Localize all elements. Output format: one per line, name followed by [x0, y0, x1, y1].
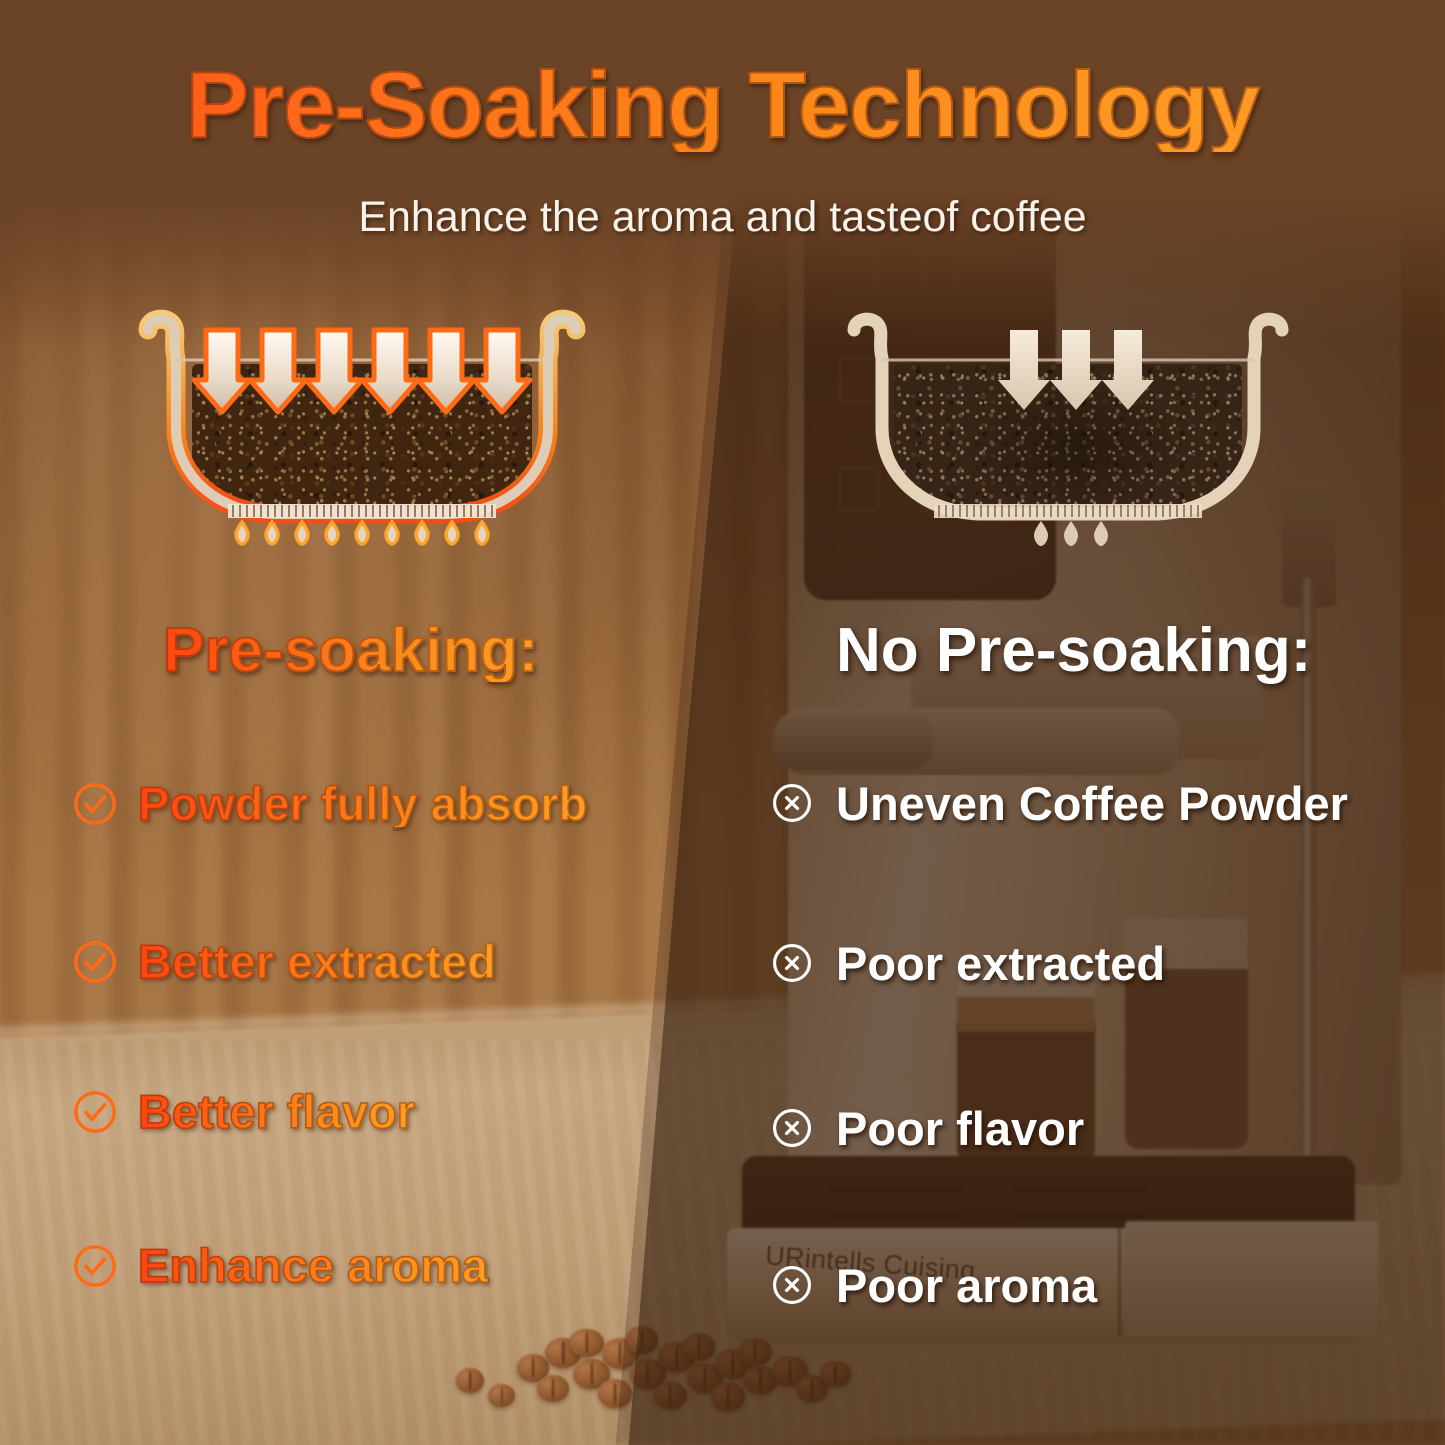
- benefit-item-label: Enhance aroma: [138, 1242, 488, 1289]
- check-circle-icon: [72, 1089, 118, 1135]
- infographic-canvas: URintells Cuising: [0, 0, 1445, 1445]
- check-circle-icon: [72, 1243, 118, 1289]
- diagram-pre-soaking: [132, 308, 592, 588]
- benefit-item-3: Better flavor: [72, 1088, 415, 1135]
- benefit-item-label: Better flavor: [138, 1088, 415, 1135]
- check-circle-icon: [72, 781, 118, 827]
- drawback-item-label: Poor flavor: [836, 1105, 1084, 1152]
- basket-outline-plain: [838, 308, 1298, 588]
- drawback-item-2: Poor extracted: [770, 940, 1165, 987]
- x-circle-icon: [770, 781, 816, 827]
- diagram-no-pre-soaking: [838, 308, 1298, 588]
- x-circle-icon: [770, 941, 816, 987]
- benefit-item-2: Better extracted: [72, 938, 496, 985]
- x-circle-icon: [770, 1106, 816, 1152]
- drawback-item-label: Poor extracted: [836, 940, 1165, 987]
- drawback-item-label: Poor aroma: [836, 1262, 1097, 1309]
- water-droplets: [1034, 521, 1108, 546]
- page-subtitle: Enhance the aroma and tasteof coffee: [0, 193, 1445, 242]
- x-circle-icon: [770, 1263, 816, 1309]
- check-circle-icon: [72, 939, 118, 985]
- drawback-item-3: Poor flavor: [770, 1105, 1084, 1152]
- content-layer: Pre-Soaking Technology Enhance the aroma…: [0, 0, 1445, 1445]
- column-heading-no-pre-soaking: No Pre-soaking:: [836, 620, 1311, 682]
- page-title: Pre-Soaking Technology: [0, 58, 1445, 152]
- benefit-item-4: Enhance aroma: [72, 1242, 488, 1289]
- benefit-item-1: Powder fully absorb: [72, 780, 587, 827]
- column-heading-pre-soaking: Pre-soaking:: [163, 620, 539, 682]
- benefit-item-label: Better extracted: [138, 938, 496, 985]
- water-droplets: [236, 522, 488, 544]
- water-arrows: [998, 330, 1154, 410]
- drawback-item-1: Uneven Coffee Powder: [770, 780, 1348, 827]
- drawback-item-4: Poor aroma: [770, 1262, 1097, 1309]
- water-arrows: [194, 330, 530, 412]
- basket-outline-glow: [132, 308, 592, 588]
- benefit-item-label: Powder fully absorb: [138, 780, 587, 827]
- drawback-item-label: Uneven Coffee Powder: [836, 780, 1348, 827]
